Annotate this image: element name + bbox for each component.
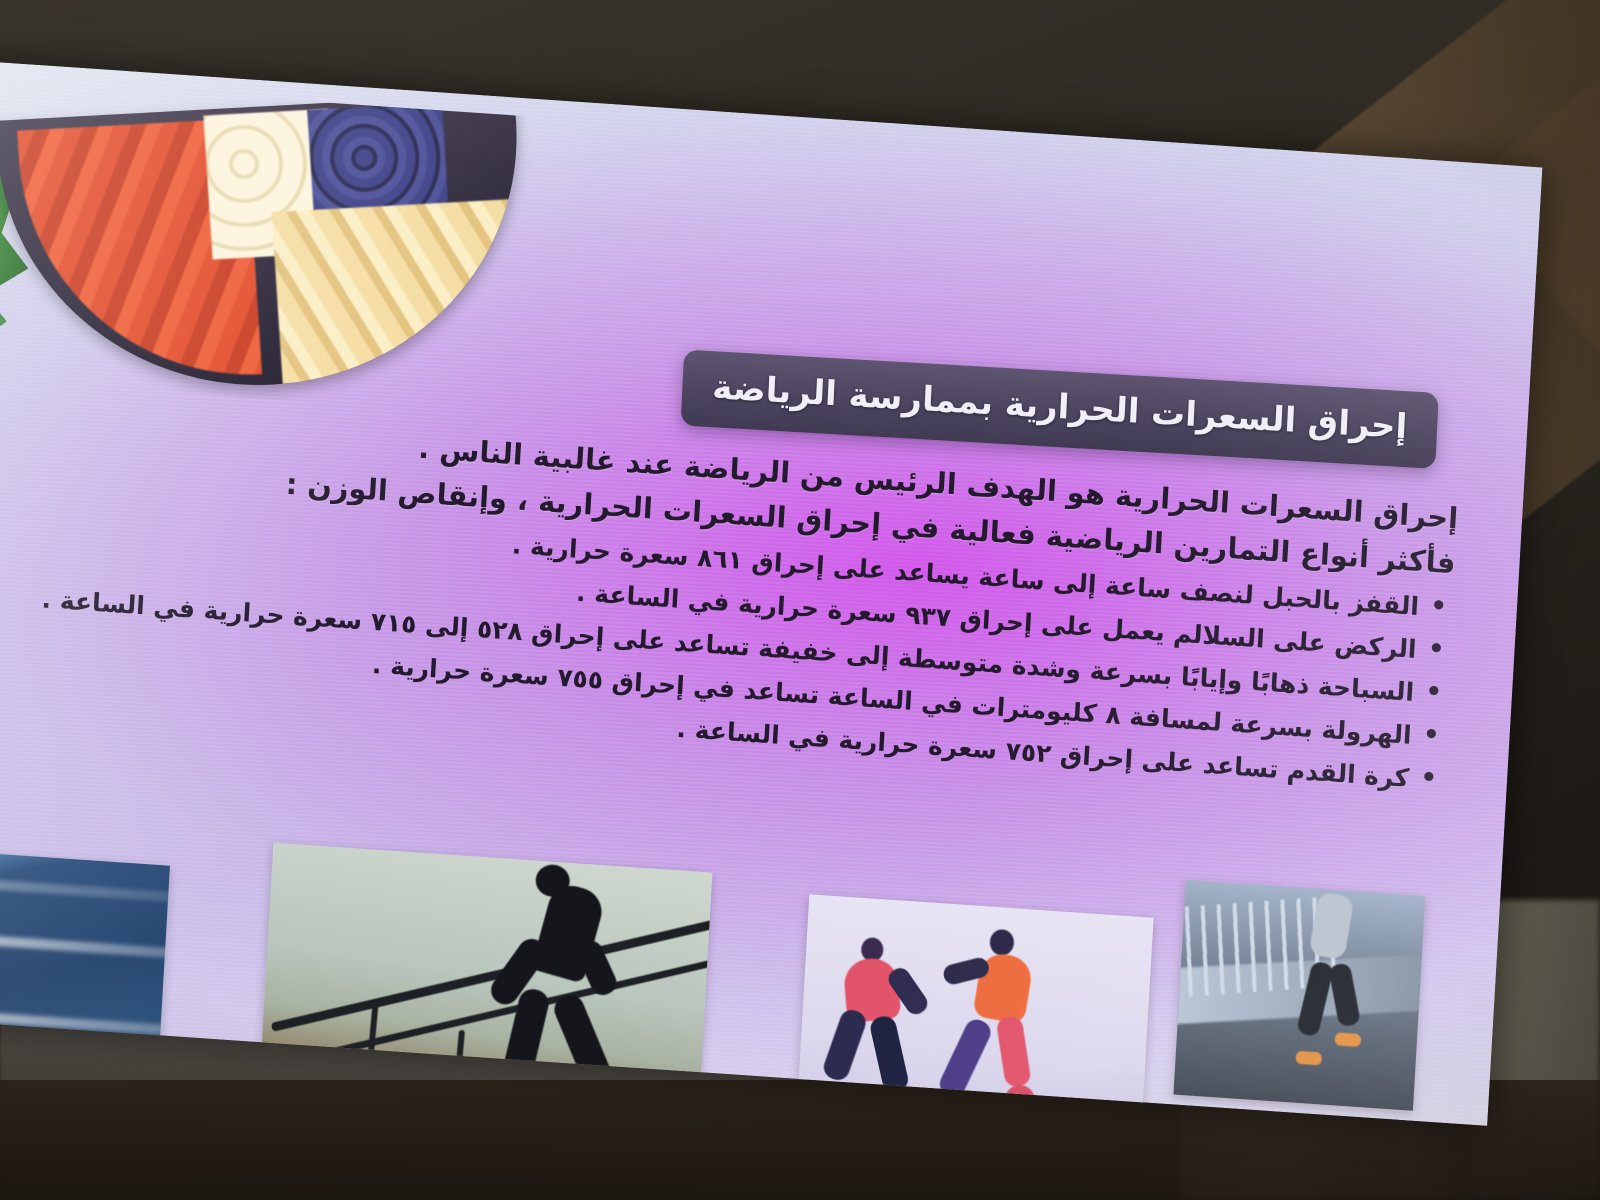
player2-leg-b bbox=[996, 1015, 1032, 1088]
fruit-bowl bbox=[0, 93, 532, 399]
soccer-illustration bbox=[797, 894, 1154, 1126]
jogger-shoe-b bbox=[1335, 1032, 1362, 1047]
runner-leg-back bbox=[550, 990, 620, 1103]
player1-leg-a bbox=[821, 1006, 869, 1083]
player2-leg-a bbox=[936, 1015, 995, 1100]
jogger-shoe-a bbox=[1295, 1051, 1322, 1066]
swimming-pool-photo bbox=[0, 846, 170, 1080]
leaf-decoration-small-icon bbox=[0, 280, 9, 361]
mango-slices bbox=[272, 198, 532, 384]
fruit-bowl-photo bbox=[0, 76, 584, 420]
soccer-ball bbox=[1004, 1084, 1036, 1116]
projection-screen: إحراق السعرات الحرارية بممارسة الرياضة إ… bbox=[0, 60, 1562, 1177]
projected-slide-photo: إحراق السعرات الحرارية بممارسة الرياضة إ… bbox=[0, 0, 1600, 1200]
player2-head bbox=[989, 928, 1014, 956]
player1-leg-b bbox=[868, 1014, 910, 1094]
jogging-photo bbox=[1173, 880, 1425, 1111]
stairs-running-photo bbox=[257, 843, 713, 1126]
